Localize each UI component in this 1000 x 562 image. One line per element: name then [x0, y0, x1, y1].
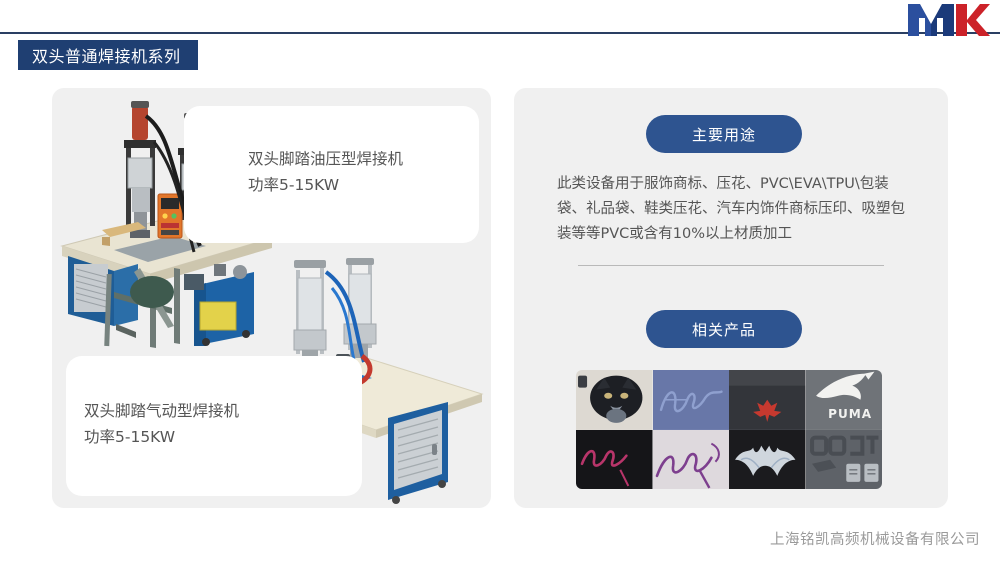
- section-title: 双头普通焊接机系列: [32, 43, 181, 67]
- right-info-card: 主要用途 此类设备用于服饰商标、压花、PVC\EVA\TPU\包装袋、礼品袋、鞋…: [514, 88, 948, 508]
- sample-tile-pink-script[interactable]: [576, 430, 653, 490]
- main-use-label: 主要用途: [692, 124, 756, 145]
- sample-tile-puma[interactable]: PUMA: [806, 370, 883, 430]
- slide-root: 双头普通焊接机系列: [0, 0, 1000, 562]
- logo-letter-k: [956, 4, 990, 36]
- header-rule: [0, 32, 1000, 34]
- product-label-2: 双头脚踏气动型焊接机 功率5-15KW: [84, 398, 239, 450]
- main-use-pill[interactable]: 主要用途: [646, 115, 802, 153]
- sample-tile-batman[interactable]: [729, 430, 806, 490]
- product-label-1: 双头脚踏油压型焊接机 功率5-15KW: [248, 146, 403, 198]
- section-divider: [578, 265, 884, 266]
- logo-letter-m: [908, 4, 954, 36]
- footer-company: 上海铭凯高频机械设备有限公司: [770, 528, 980, 549]
- sample-tile-obbit[interactable]: [806, 430, 883, 490]
- product-2-power: 功率5-15KW: [84, 424, 239, 450]
- related-products-label: 相关产品: [692, 319, 756, 340]
- left-product-card: 双头脚踏油压型焊接机 功率5-15KW 双头脚踏气动型焊接机 功率5-15KW: [52, 88, 491, 508]
- sample-tile-maple-leaf[interactable]: [729, 370, 806, 430]
- related-products-pill[interactable]: 相关产品: [646, 310, 802, 348]
- svg-text:PUMA: PUMA: [828, 407, 872, 421]
- sample-tile-purple-script[interactable]: [653, 430, 730, 490]
- sample-image-grid: PUMA: [576, 370, 882, 489]
- main-use-description: 此类设备用于服饰商标、压花、PVC\EVA\TPU\包装袋、礼品袋、鞋类压花、汽…: [557, 172, 909, 247]
- sample-tile-tiger[interactable]: [576, 370, 653, 430]
- section-banner: 双头普通焊接机系列: [18, 40, 198, 70]
- sample-tile-cursive[interactable]: [653, 370, 730, 430]
- product-1-power: 功率5-15KW: [248, 172, 403, 198]
- mk-logo: [900, 0, 990, 36]
- product-1-name: 双头脚踏油压型焊接机: [248, 146, 403, 172]
- product-2-name: 双头脚踏气动型焊接机: [84, 398, 239, 424]
